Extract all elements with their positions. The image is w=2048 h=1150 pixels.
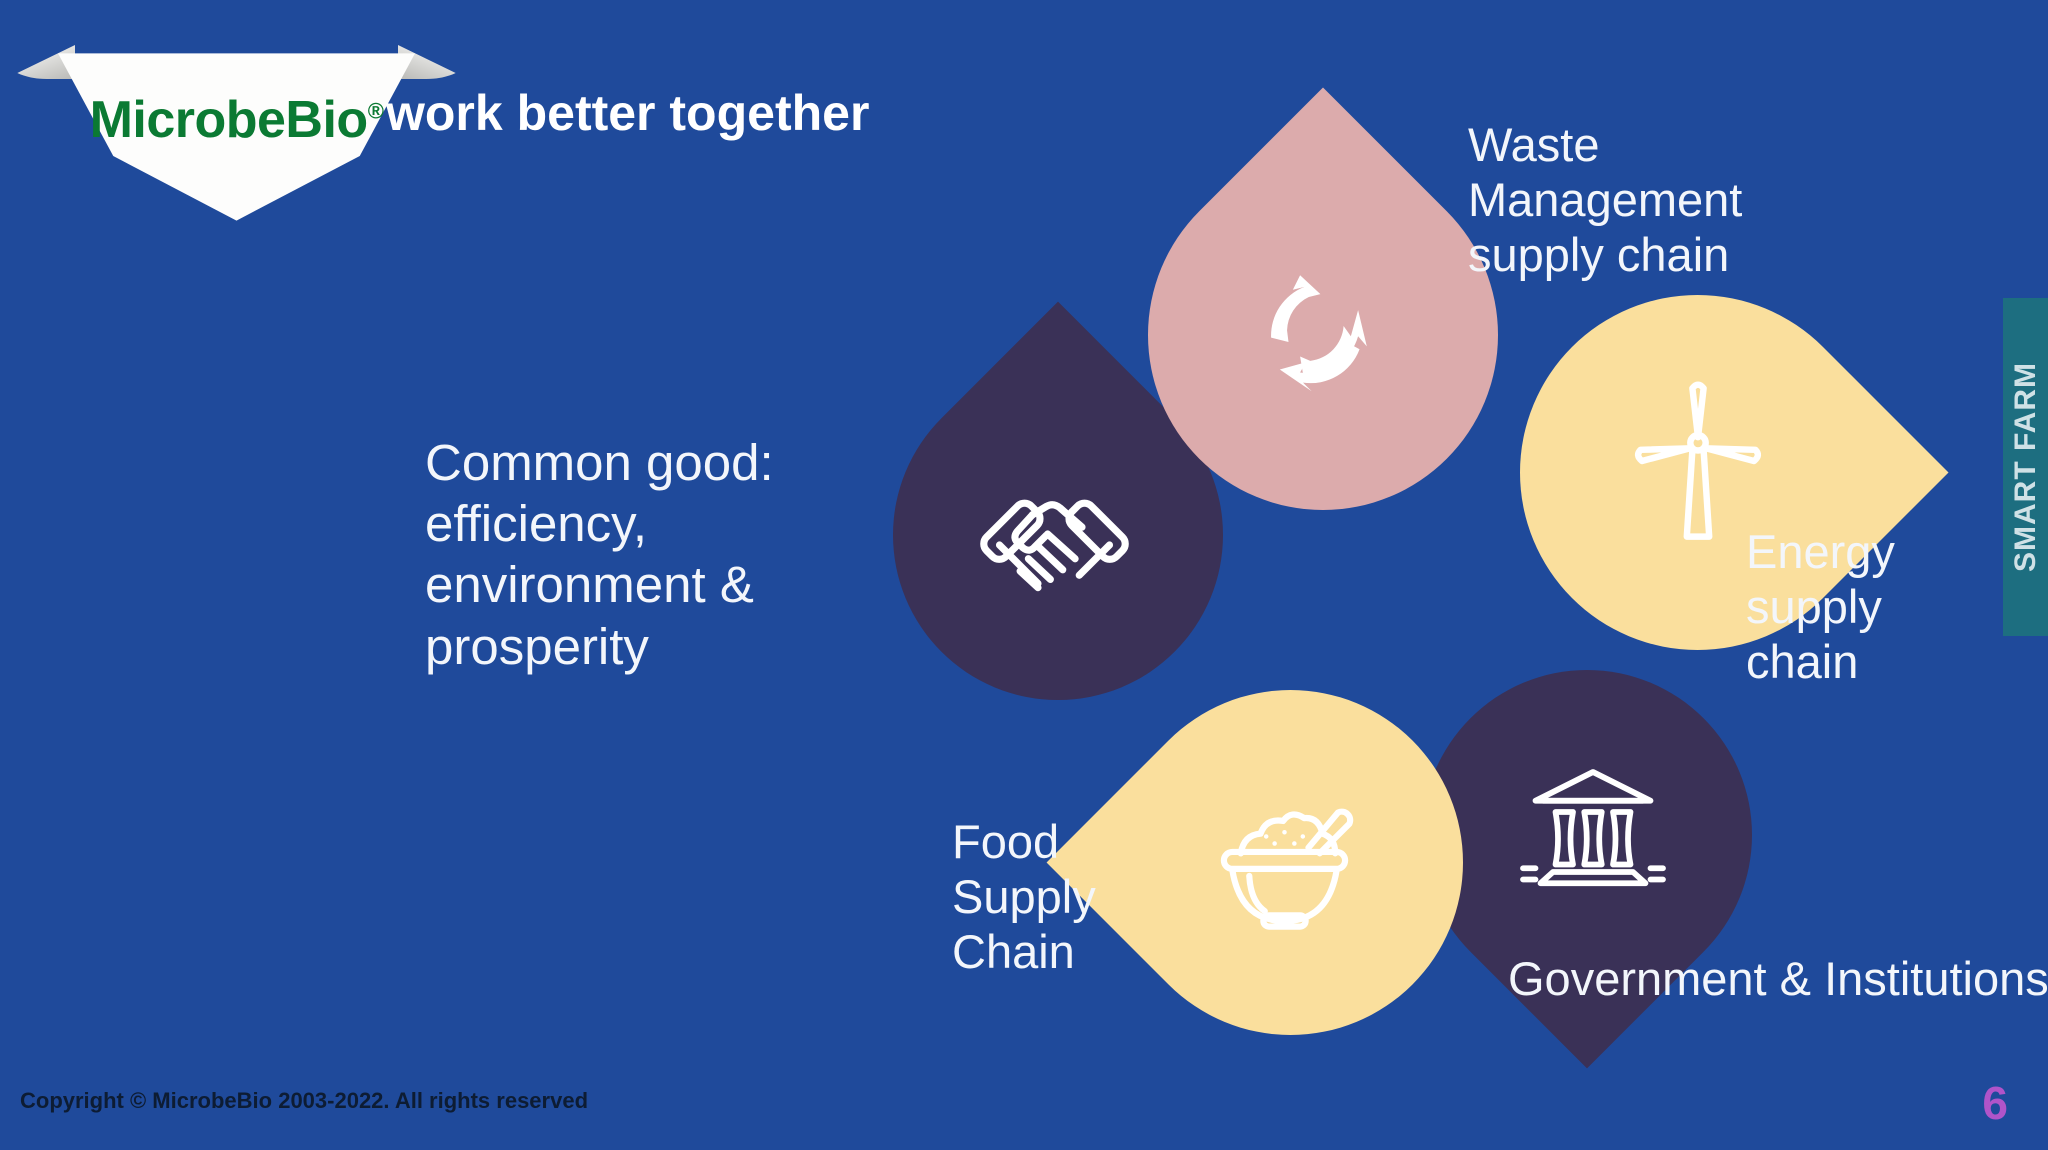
handshake-icon (972, 467, 1137, 612)
footer-copyright: Copyright © MicrobeBio 2003-2022. All ri… (20, 1088, 588, 1114)
petal-label-waste-management: Waste Management supply chain (1468, 118, 1798, 283)
registered-trademark-icon: ® (368, 99, 384, 124)
wind-turbine-icon (1628, 376, 1768, 546)
common-good-text: Common good: efficiency, environment & p… (425, 432, 895, 677)
logo-text: MicrobeBio (90, 91, 368, 149)
side-tab-label: SMART FARM (2009, 362, 2043, 572)
slide-canvas: MicrobeBio® work better together Common … (0, 0, 2048, 1150)
petal-waste-management[interactable] (1148, 160, 1498, 510)
petal-government[interactable] (1422, 670, 1752, 1000)
page-title: work better together (386, 84, 869, 142)
petal-label-government: Government & Institutions (1508, 952, 1848, 1007)
petal-food-supply[interactable] (1118, 690, 1463, 1035)
petal-label-food-supply: Food Supply Chain (952, 815, 1162, 980)
petal-label-energy: Energy supply chain (1746, 525, 1976, 690)
rice-bowl-icon (1207, 784, 1362, 934)
recycle-icon (1245, 255, 1390, 400)
side-tab-smart-farm[interactable]: SMART FARM (2003, 298, 2048, 636)
government-building-icon (1518, 762, 1668, 892)
page-number: 6 (1982, 1076, 2008, 1130)
